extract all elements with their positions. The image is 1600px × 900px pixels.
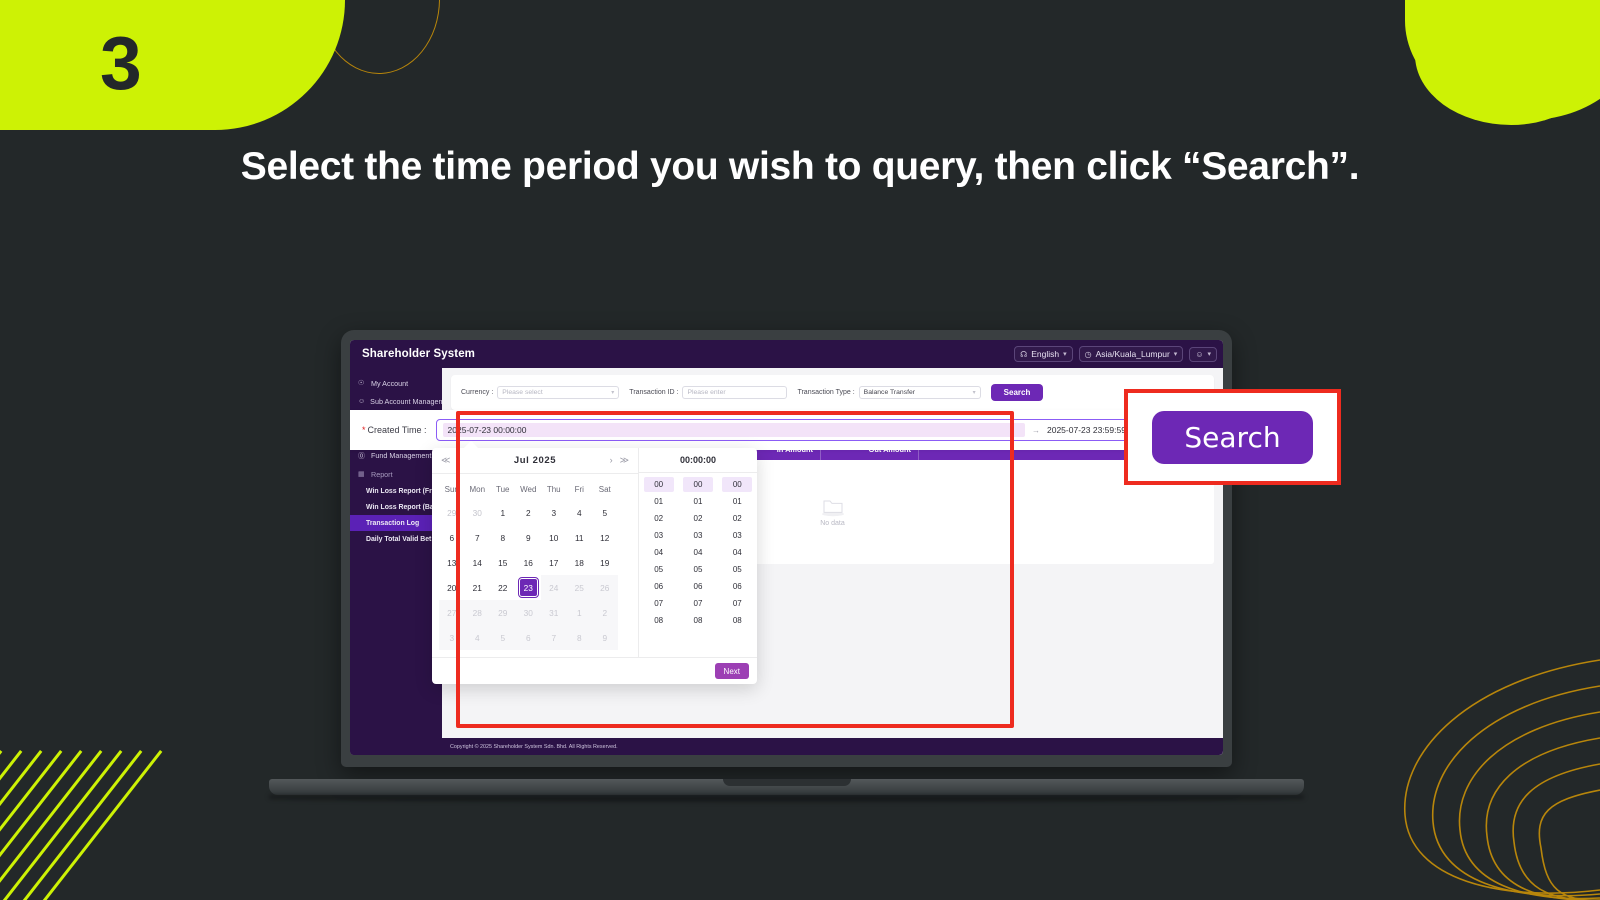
app-brand-title: Shareholder System: [362, 348, 475, 360]
calendar-day-label: 9: [526, 533, 531, 543]
created-time-label-text: Created Time :: [368, 425, 427, 435]
calendar-day-3: 3: [439, 625, 465, 650]
hour-option-07[interactable]: 07: [644, 596, 674, 611]
sub-account-icon: ☺: [358, 398, 365, 405]
calendar-day-21[interactable]: 21: [465, 575, 491, 600]
calendar-day-label: 12: [600, 533, 609, 543]
weekday-mon: Mon: [465, 479, 491, 500]
created-time-row: *Created Time : 2025-07-23 00:00:00 → 20…: [350, 410, 1223, 450]
calendar-day-27: 27: [439, 600, 465, 625]
calendar-day-rows: 2930123456789101112131415161718192021222…: [439, 500, 631, 650]
empty-folder-icon: [820, 497, 846, 517]
calendar-day-2[interactable]: 2: [516, 500, 542, 525]
calendar-day-20[interactable]: 20: [439, 575, 465, 600]
calendar-month: Jul: [514, 455, 530, 466]
calendar-day-label: 22: [498, 583, 507, 593]
calendar-day-1[interactable]: 1: [490, 500, 516, 525]
calendar-day-label: 25: [575, 583, 584, 593]
calendar-day-label: 21: [473, 583, 482, 593]
laptop-shadow: [269, 795, 1304, 802]
calendar-day-11[interactable]: 11: [567, 525, 593, 550]
calendar-day-7[interactable]: 7: [465, 525, 491, 550]
calendar-day-7: 7: [541, 625, 567, 650]
sidebar-item-win-loss-report-front[interactable]: Win Loss Report (Front): [350, 483, 442, 499]
currency-select[interactable]: Please select ▾: [497, 386, 619, 399]
my-account-icon: ☉: [358, 379, 366, 387]
calendar-next-nav: › ≫: [610, 455, 629, 466]
calendar-day-label: 8: [500, 533, 505, 543]
calendar-pane: ≪ ‹ Jul 2025 › ≫: [432, 448, 639, 657]
calendar-day-1: 1: [567, 600, 593, 625]
prev-year-button[interactable]: ≪: [441, 455, 450, 466]
gold-ring-decoration: [318, 0, 440, 74]
calendar-day-label: 8: [577, 633, 582, 643]
second-option-03[interactable]: 03: [722, 528, 752, 543]
laptop-base: [269, 779, 1304, 795]
search-button-zoomed[interactable]: Search: [1152, 411, 1312, 464]
language-selector[interactable]: ☊ English ▾: [1014, 346, 1073, 362]
lime-blob-top-right: [1405, 0, 1600, 120]
calendar-day-6[interactable]: 6: [439, 525, 465, 550]
calendar-title: Jul 2025: [514, 455, 556, 466]
user-menu[interactable]: ☺ ▾: [1189, 347, 1217, 362]
calendar-year: 2025: [533, 455, 557, 466]
minute-option-04[interactable]: 04: [683, 545, 713, 560]
minute-option-07[interactable]: 07: [683, 596, 713, 611]
lime-stripes-decoration: [0, 750, 215, 900]
calendar-day-label: 5: [500, 633, 505, 643]
second-option-05[interactable]: 05: [722, 562, 752, 577]
calendar-day-label: 26: [600, 583, 609, 593]
sidebar-filler: [350, 547, 442, 755]
calendar-day-9[interactable]: 9: [516, 525, 542, 550]
laptop-notch: [723, 779, 851, 786]
filter-currency: Currency : Please select ▾: [461, 386, 619, 399]
calendar-day-label: 17: [549, 558, 558, 568]
calendar-week-row: 293012345: [439, 500, 631, 525]
second-option-00[interactable]: 00: [722, 477, 752, 492]
filter-label: Transaction ID :: [629, 389, 678, 396]
calendar-day-15[interactable]: 15: [490, 550, 516, 575]
date-picker-panel: ≪ ‹ Jul 2025 › ≫: [432, 448, 757, 684]
calendar-day-22[interactable]: 22: [490, 575, 516, 600]
calendar-day-13[interactable]: 13: [439, 550, 465, 575]
next-month-button[interactable]: ›: [610, 455, 613, 466]
calendar-day-label: 1: [577, 608, 582, 618]
calendar-day-28: 28: [465, 600, 491, 625]
hour-option-01[interactable]: 01: [644, 494, 674, 509]
date-picker-footer: Next: [432, 657, 757, 684]
step-number-badge: 3: [0, 0, 345, 130]
calendar-day-label: 15: [498, 558, 507, 568]
laptop-screen: Shareholder System ☊ English ▾ ◷ Asia/Ku…: [350, 340, 1223, 755]
filter-transaction-type: Transaction Type : Balance Transfer ▾: [797, 386, 980, 399]
calendar-day-label: 14: [473, 558, 482, 568]
calendar-day-label: 29: [447, 508, 456, 518]
calendar-day-16[interactable]: 16: [516, 550, 542, 575]
calendar-day-label: 18: [575, 558, 584, 568]
calendar-day-6: 6: [516, 625, 542, 650]
calendar-day-label: 2: [526, 508, 531, 518]
clock-icon: ◷: [1085, 350, 1092, 359]
footer-copyright: Copyright © 2025 Shareholder System Sdn.…: [450, 744, 618, 750]
calendar-day-24: 24: [541, 575, 567, 600]
weekday-sun: Sun: [439, 479, 465, 500]
calendar-day-3[interactable]: 3: [541, 500, 567, 525]
second-column: 000102030405060708: [718, 477, 757, 657]
prev-month-button[interactable]: ‹: [457, 455, 460, 466]
second-option-04[interactable]: 04: [722, 545, 752, 560]
sidebar-item-my-account[interactable]: ☉ My Account: [350, 374, 442, 392]
calendar-day-label: 5: [602, 508, 607, 518]
calendar-day-12[interactable]: 12: [592, 525, 618, 550]
empty-state-text: No data: [820, 520, 845, 527]
calendar-day-label: 10: [549, 533, 558, 543]
calendar-day-8: 8: [567, 625, 593, 650]
next-button[interactable]: Next: [715, 663, 749, 679]
calendar-day-label: 4: [577, 508, 582, 518]
calendar-day-label: 1: [500, 508, 505, 518]
calendar-day-29[interactable]: 29: [439, 500, 465, 525]
chevron-down-icon: ▾: [1174, 350, 1178, 358]
hour-column: 000102030405060708: [639, 477, 678, 657]
calendar-day-4: 4: [465, 625, 491, 650]
calendar-day-4[interactable]: 4: [567, 500, 593, 525]
calendar-day-label: 11: [575, 533, 584, 543]
date-range-field[interactable]: 2025-07-23 00:00:00 → 2025-07-23 23:59:5…: [436, 419, 1211, 441]
app-topbar: Shareholder System ☊ English ▾ ◷ Asia/Ku…: [350, 340, 1223, 368]
user-icon: ☺: [1195, 350, 1203, 359]
calendar-day-29: 29: [490, 600, 516, 625]
calendar-day-label: 23: [520, 579, 537, 596]
calendar-day-14[interactable]: 14: [465, 550, 491, 575]
calendar-day-label: 7: [475, 533, 480, 543]
calendar-day-label: 31: [549, 608, 558, 618]
calendar-day-label: 19: [600, 558, 609, 568]
calendar-day-label: 4: [475, 633, 480, 643]
calendar-day-label: 7: [551, 633, 556, 643]
time-header: 00:00:00: [639, 448, 757, 473]
second-option-07[interactable]: 07: [722, 596, 752, 611]
minute-option-02[interactable]: 02: [683, 511, 713, 526]
calendar-day-label: 13: [447, 558, 456, 568]
sidebar-item-daily-total-valid-bet[interactable]: Daily Total Valid Bet: [350, 531, 442, 547]
hour-option-06[interactable]: 06: [644, 579, 674, 594]
sidebar-item-win-loss-report-back[interactable]: Win Loss Report (Back): [350, 499, 442, 515]
filter-transaction-id: Transaction ID : Please enter: [629, 386, 787, 399]
calendar-day-9: 9: [592, 625, 618, 650]
time-columns: 000102030405060708 000102030405060708 00…: [639, 473, 757, 657]
timezone-value: Asia/Kuala_Lumpur: [1096, 349, 1170, 359]
calendar-day-label: 28: [473, 608, 482, 618]
lime-blob-top-right-secondary: [1415, 0, 1600, 125]
calendar-day-label: 30: [524, 608, 533, 618]
filter-label: Currency :: [461, 389, 493, 396]
calendar-grid: Sun Mon Tue Wed Thu Fri Sat 293012345678…: [432, 474, 638, 657]
calendar-day-label: 9: [602, 633, 607, 643]
calendar-day-10[interactable]: 10: [541, 525, 567, 550]
transaction-type-value: Balance Transfer: [864, 389, 915, 396]
minute-column: 000102030405060708: [678, 477, 717, 657]
calendar-day-label: 3: [551, 508, 556, 518]
calendar-day-25: 25: [567, 575, 593, 600]
filter-label: Transaction Type :: [797, 389, 854, 396]
calendar-day-label: 20: [447, 583, 456, 593]
sidebar-item-label: Report: [371, 470, 393, 479]
search-button[interactable]: Search: [991, 384, 1044, 401]
minute-option-05[interactable]: 05: [683, 562, 713, 577]
next-year-button[interactable]: ≫: [620, 455, 629, 466]
minute-option-03[interactable]: 03: [683, 528, 713, 543]
transaction-id-value: Please enter: [687, 389, 725, 396]
hour-option-04[interactable]: 04: [644, 545, 674, 560]
calendar-day-label: 2: [602, 608, 607, 618]
required-mark: *: [362, 425, 366, 435]
sidebar-item-sub-account-management[interactable]: ☺ Sub Account Management: [350, 392, 442, 410]
calendar-day-30: 30: [516, 600, 542, 625]
time-pane: 00:00:00 000102030405060708 000102030405…: [639, 448, 757, 657]
calendar-day-5: 5: [490, 625, 516, 650]
calendar-day-30[interactable]: 30: [465, 500, 491, 525]
calendar-day-19[interactable]: 19: [592, 550, 618, 575]
calendar-day-label: 30: [473, 508, 482, 518]
calendar-day-2: 2: [592, 600, 618, 625]
calendar-day-label: 29: [498, 608, 507, 618]
chevron-down-icon: ▾: [1063, 350, 1067, 358]
hour-option-05[interactable]: 05: [644, 562, 674, 577]
chevron-down-icon: ▾: [1207, 350, 1211, 358]
second-option-01[interactable]: 01: [722, 494, 752, 509]
app-footer: Copyright © 2025 Shareholder System Sdn.…: [442, 738, 1223, 755]
transaction-type-select[interactable]: Balance Transfer ▾: [859, 386, 981, 399]
calendar-week-row: 20212223242526: [439, 575, 631, 600]
minute-option-01[interactable]: 01: [683, 494, 713, 509]
calendar-prev-nav: ≪ ‹: [441, 455, 460, 466]
hour-option-03[interactable]: 03: [644, 528, 674, 543]
date-range-start-input[interactable]: 2025-07-23 00:00:00: [443, 423, 1025, 437]
chevron-down-icon: ▾: [973, 389, 976, 396]
calendar-week-row: 3456789: [439, 625, 631, 650]
calendar-day-17[interactable]: 17: [541, 550, 567, 575]
calendar-header: ≪ ‹ Jul 2025 › ≫: [432, 448, 638, 474]
transaction-id-input[interactable]: Please enter: [682, 386, 787, 399]
calendar-day-5[interactable]: 5: [592, 500, 618, 525]
laptop-lid: Shareholder System ☊ English ▾ ◷ Asia/Ku…: [341, 330, 1232, 767]
calendar-day-label: 3: [449, 633, 454, 643]
timezone-selector[interactable]: ◷ Asia/Kuala_Lumpur ▾: [1079, 346, 1184, 362]
chevron-down-icon: ▾: [611, 389, 614, 396]
calendar-week-row: 6789101112: [439, 525, 631, 550]
calendar-day-label: 27: [447, 608, 456, 618]
calendar-day-31: 31: [541, 600, 567, 625]
weekday-fri: Fri: [567, 479, 593, 500]
sidebar-item-label: My Account: [371, 379, 408, 388]
topbar-controls: ☊ English ▾ ◷ Asia/Kuala_Lumpur ▾ ☺ ▾: [1014, 346, 1217, 362]
search-callout-box: Search: [1124, 389, 1341, 485]
calendar-day-label: 6: [526, 633, 531, 643]
globe-icon: ☊: [1020, 350, 1027, 359]
fund-management-icon: ⓪: [358, 451, 366, 461]
sidebar-item-report[interactable]: ▦ Report: [350, 465, 442, 483]
calendar-week-row: 272829303112: [439, 600, 631, 625]
weekday-wed: Wed: [516, 479, 542, 500]
hour-option-08[interactable]: 08: [644, 613, 674, 628]
calendar-day-label: 24: [549, 583, 558, 593]
created-time-label: *Created Time :: [362, 425, 427, 435]
range-arrow-icon: →: [1032, 426, 1040, 435]
second-option-06[interactable]: 06: [722, 579, 752, 594]
currency-value: Please select: [502, 389, 542, 396]
hour-option-00[interactable]: 00: [644, 477, 674, 492]
calendar-day-18[interactable]: 18: [567, 550, 593, 575]
calendar-day-label: 6: [449, 533, 454, 543]
slide-headline: Select the time period you wish to query…: [0, 145, 1600, 189]
calendar-day-23[interactable]: 23: [516, 575, 542, 600]
sidebar-item-label: Fund Management: [371, 451, 431, 460]
calendar-day-8[interactable]: 8: [490, 525, 516, 550]
step-number: 3: [100, 26, 141, 101]
minute-option-00[interactable]: 00: [683, 477, 713, 492]
minute-option-08[interactable]: 08: [683, 613, 713, 628]
weekday-sat: Sat: [592, 479, 618, 500]
second-option-02[interactable]: 02: [722, 511, 752, 526]
minute-option-06[interactable]: 06: [683, 579, 713, 594]
second-option-08[interactable]: 08: [722, 613, 752, 628]
hour-option-02[interactable]: 02: [644, 511, 674, 526]
weekday-tue: Tue: [490, 479, 516, 500]
calendar-day-label: 16: [524, 558, 533, 568]
report-icon: ▦: [358, 470, 366, 478]
filter-bar: Currency : Please select ▾ Transaction I…: [451, 375, 1214, 410]
calendar-day-26: 26: [592, 575, 618, 600]
language-value: English: [1031, 349, 1059, 359]
calendar-weekday-row: Sun Mon Tue Wed Thu Fri Sat: [439, 479, 631, 500]
sidebar-item-transaction-log[interactable]: Transaction Log: [350, 515, 442, 531]
calendar-week-row: 13141516171819: [439, 550, 631, 575]
weekday-thu: Thu: [541, 479, 567, 500]
